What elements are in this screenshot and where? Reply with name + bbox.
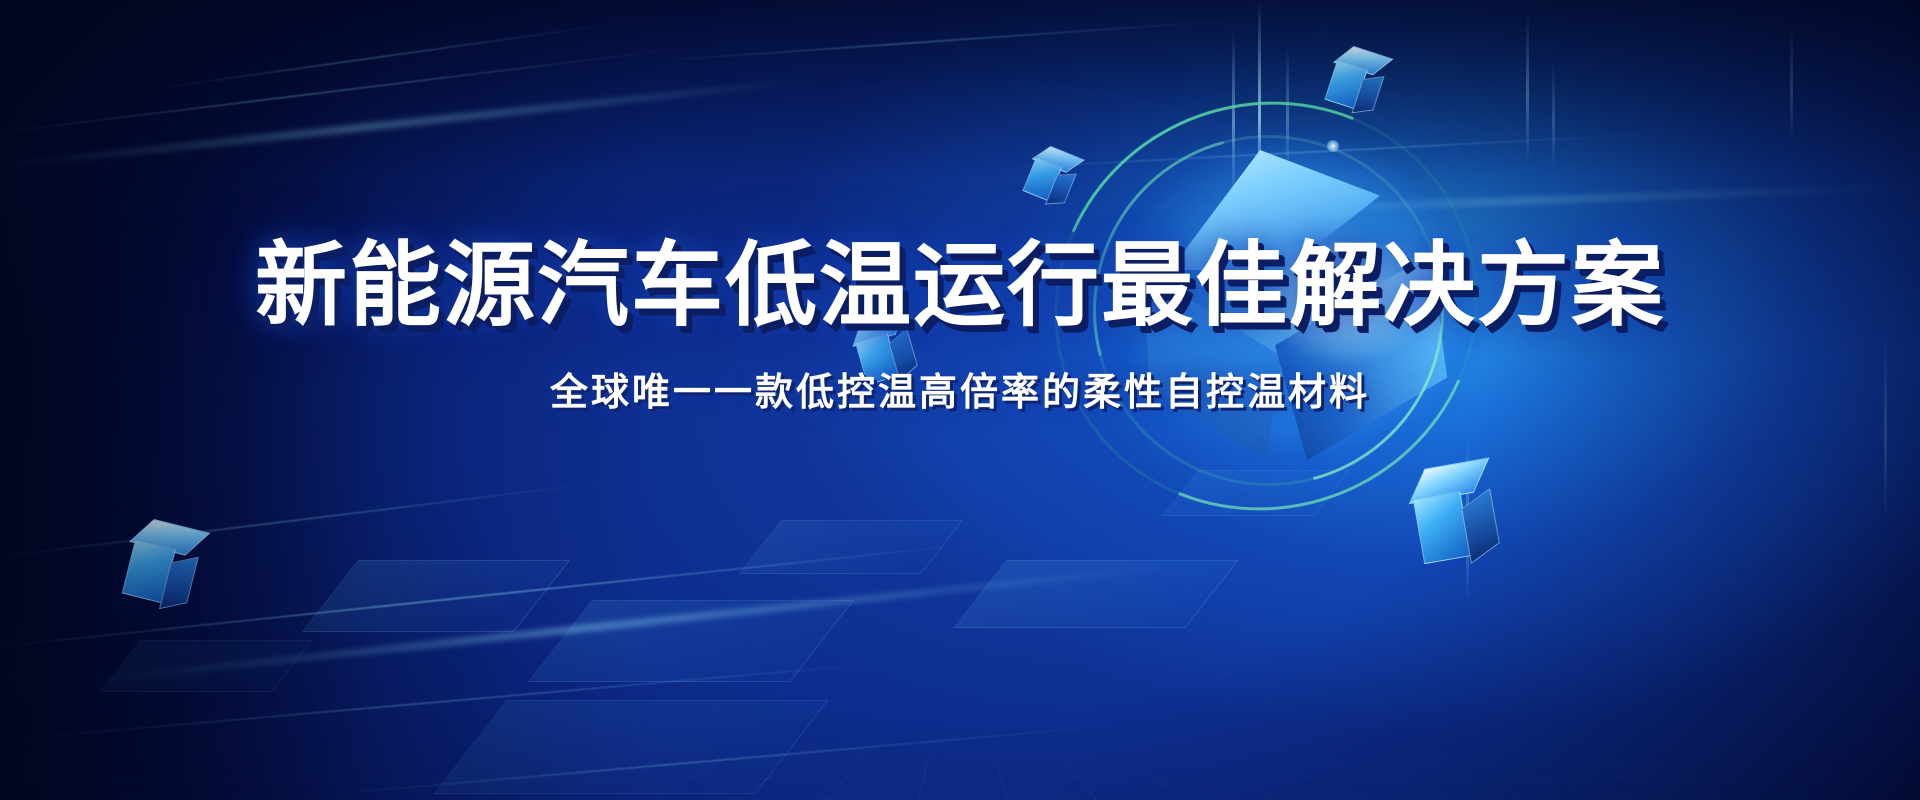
floating-cube-1 xyxy=(121,533,199,611)
page-title: 新能源汽车低温运行最佳解决方案 xyxy=(0,238,1920,335)
banner-text-block: 新能源汽车低温运行最佳解决方案 全球唯一一款低控温高倍率的柔性自控温材料 xyxy=(0,238,1920,416)
perspective-grid-floor xyxy=(0,749,1920,800)
hero-banner: 新能源汽车低温运行最佳解决方案 全球唯一一款低控温高倍率的柔性自控温材料 xyxy=(0,0,1920,800)
page-subtitle: 全球唯一一款低控温高倍率的柔性自控温材料 xyxy=(0,361,1920,416)
gem-edge-glint xyxy=(1327,140,1339,152)
